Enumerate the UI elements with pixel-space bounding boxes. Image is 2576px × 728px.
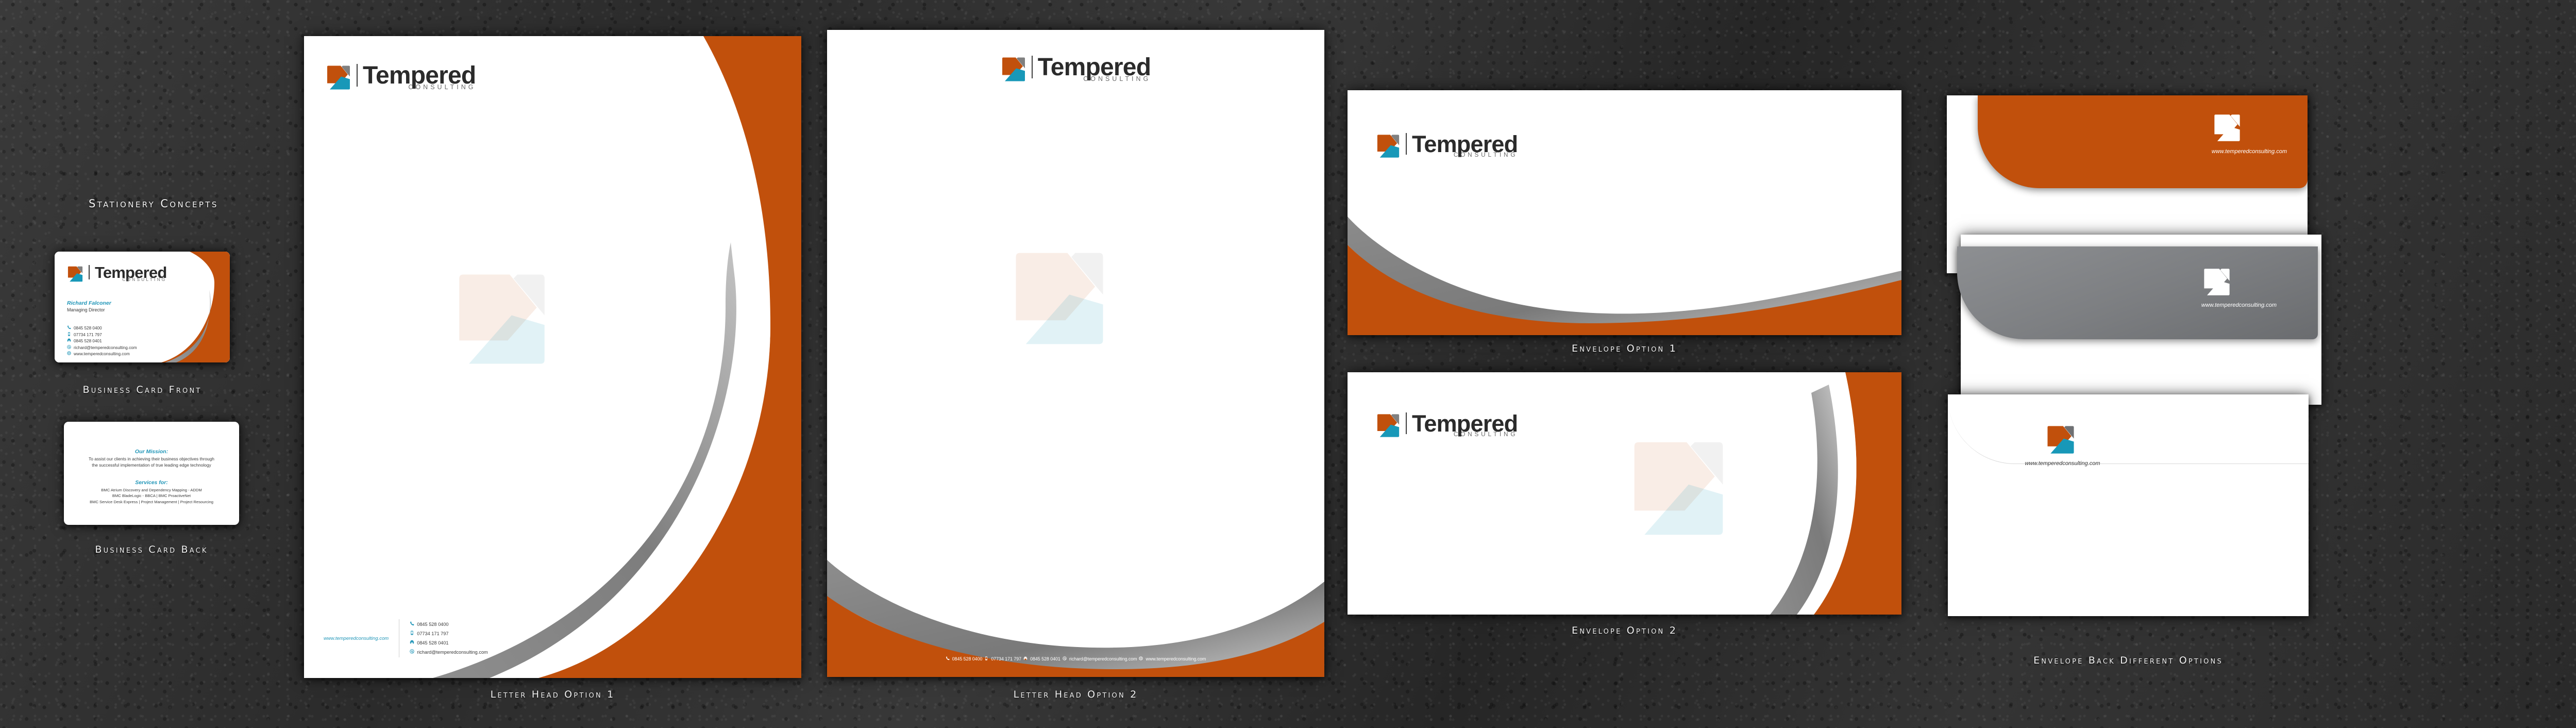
logo-tagline: CONSULTING xyxy=(363,84,476,91)
at-icon xyxy=(1063,656,1067,661)
logo-business-card-front: Tempered CONSULTING xyxy=(67,265,166,283)
envelope-back-orange-flap: www.temperedconsulting.com xyxy=(1978,95,2308,188)
mission-line-1: To assist our clients in achieving their… xyxy=(64,456,239,462)
logo-tagline: CONSULTING xyxy=(95,278,166,282)
contact-fax: 0845 528 0401 xyxy=(410,638,488,648)
logo-mark-icon xyxy=(1376,413,1401,438)
person-title: Managing Director xyxy=(67,307,111,312)
mission-block: Our Mission: To assist our clients in ac… xyxy=(64,449,239,468)
contact-mobile-value: 07734 171 797 xyxy=(74,332,102,339)
contact-email-value: richard@temperedconsulting.com xyxy=(1069,656,1137,661)
logo-mark-icon xyxy=(67,266,83,283)
presentation-board: Stationery Concepts xyxy=(0,0,2576,728)
contact-fax: 0845 528 0401 xyxy=(67,338,137,345)
contact-website: www.temperedconsulting.com xyxy=(1139,656,1206,661)
envelope-back-white-flap xyxy=(1948,394,2309,464)
contact-website-value: www.temperedconsulting.com xyxy=(1146,656,1206,661)
fax-icon xyxy=(410,638,414,648)
mission-heading: Our Mission: xyxy=(64,449,239,455)
contact-phone-value: 0845 528 0400 xyxy=(74,325,102,332)
services-line-1: BMC Atrium Discovery and Dependency Mapp… xyxy=(64,487,239,493)
globe-icon xyxy=(1139,656,1143,661)
envelope-back-grey-website: www.temperedconsulting.com xyxy=(2201,302,2277,308)
card-person-block: Richard Falconer Managing Director xyxy=(67,300,111,312)
letterhead-2-footer-contact: 0845 528 0400 07734 171 797 0845 528 040… xyxy=(827,656,1324,661)
contact-phone: 0845 528 0400 xyxy=(410,620,488,629)
contact-website-value: www.temperedconsulting.com xyxy=(74,351,130,358)
contact-email: richard@temperedconsulting.com xyxy=(410,648,488,657)
phone-icon xyxy=(67,325,71,332)
phone-icon xyxy=(946,656,950,661)
logo-letterhead-2: Tempered CONSULTING xyxy=(827,56,1324,82)
logo-divider xyxy=(1406,412,1407,434)
services-block: Services for: BMC Atrium Discovery and D… xyxy=(64,479,239,505)
at-icon xyxy=(410,648,414,657)
logo-wordmark: Tempered CONSULTING xyxy=(1038,56,1151,82)
contact-phone: 0845 528 0400 xyxy=(946,656,983,661)
business-card-back: Our Mission: To assist our clients in ac… xyxy=(64,422,239,525)
logo-tagline: CONSULTING xyxy=(1412,152,1518,158)
services-line-3: BMC Service Desk Express | Project Manag… xyxy=(64,499,239,505)
contact-phone: 0845 528 0400 xyxy=(67,325,137,332)
envelope-back-white-website: www.temperedconsulting.com xyxy=(2015,460,2110,467)
envelope-option-2: Tempered CONSULTING xyxy=(1348,372,1901,615)
services-line-2: BMC BladeLogic - BBCA | BMC ProactiveNet xyxy=(64,493,239,499)
envelope-back-orange-website: www.temperedconsulting.com xyxy=(2212,148,2287,155)
caption-business-card-back: Business Card Back xyxy=(64,544,239,555)
logo-mark-icon xyxy=(2046,424,2076,455)
logo-letterhead-1: Tempered CONSULTING xyxy=(326,64,476,91)
letterhead-2-graphics xyxy=(827,30,1324,677)
logo-wordmark: Tempered CONSULTING xyxy=(95,266,166,283)
mobile-icon xyxy=(67,332,71,339)
logo-divider xyxy=(1032,56,1033,78)
caption-letterhead-1: Letter head Option 1 xyxy=(304,689,801,700)
caption-envelope-2: Envelope Option 2 xyxy=(1348,625,1901,636)
section-title: Stationery Concepts xyxy=(89,197,218,210)
logo-divider xyxy=(357,64,358,87)
contact-phone-value: 0845 528 0400 xyxy=(952,656,983,661)
caption-envelope-back: Envelope Back Different Options xyxy=(1948,655,2309,666)
footer-divider xyxy=(399,619,399,657)
phone-icon xyxy=(410,620,414,629)
caption-business-card-front: Business Card Front xyxy=(55,384,230,395)
fax-icon xyxy=(67,338,71,345)
logo-mark-icon xyxy=(1001,56,1026,82)
mobile-icon xyxy=(984,656,988,661)
envelope-1-graphics xyxy=(1348,90,1901,335)
logo-envelope-1: Tempered CONSULTING xyxy=(1376,133,1518,159)
contact-mobile: 07734 171 797 xyxy=(410,629,488,638)
envelope-back-grey-flap: www.temperedconsulting.com xyxy=(1957,246,2318,339)
logo-wordmark: Tempered CONSULTING xyxy=(1412,413,1518,437)
contact-phone-value: 0845 528 0400 xyxy=(417,620,448,629)
contact-fax-value: 0845 528 0401 xyxy=(417,638,448,648)
contact-email-value: richard@temperedconsulting.com xyxy=(417,648,488,657)
caption-envelope-1: Envelope Option 1 xyxy=(1348,343,1901,354)
logo-tagline: CONSULTING xyxy=(1412,432,1518,438)
at-icon xyxy=(67,345,71,352)
logo-divider xyxy=(89,265,90,279)
logo-wordmark: Tempered CONSULTING xyxy=(363,64,476,91)
card-contact-block: 0845 528 0400 07734 171 797 0845 528 040… xyxy=(67,325,137,358)
logo-wordmark: Tempered CONSULTING xyxy=(1412,134,1518,158)
logo-envelope-2: Tempered CONSULTING xyxy=(1376,412,1518,438)
contact-website: www.temperedconsulting.com xyxy=(67,351,137,358)
fax-icon xyxy=(1023,656,1028,661)
contact-fax-value: 0845 528 0401 xyxy=(74,338,102,345)
envelope-2-graphics xyxy=(1348,372,1901,615)
mobile-icon xyxy=(410,629,414,638)
contact-fax-value: 0845 528 0401 xyxy=(1030,656,1060,661)
envelope-option-1: Tempered CONSULTING xyxy=(1348,90,1901,335)
contact-mobile-value: 07734 171 797 xyxy=(991,656,1021,661)
letterhead-1-footer: www.temperedconsulting.com 0845 528 0400… xyxy=(324,619,488,657)
letterhead-option-1: Tempered CONSULTING www.temperedconsulti… xyxy=(304,36,801,678)
contact-mobile: 07734 171 797 xyxy=(67,332,137,339)
contact-mobile-value: 07734 171 797 xyxy=(417,629,448,638)
logo-mark-icon xyxy=(2202,267,2231,297)
contact-email: richard@temperedconsulting.com xyxy=(67,345,137,352)
logo-mark-icon xyxy=(326,64,351,91)
footer-contact-block: 0845 528 0400 07734 171 797 0845 528 040… xyxy=(410,620,488,657)
contact-email: richard@temperedconsulting.com xyxy=(1063,656,1137,661)
logo-divider xyxy=(1406,133,1407,155)
contact-fax: 0845 528 0401 xyxy=(1023,656,1060,661)
envelope-back-white: www.temperedconsulting.com xyxy=(1948,394,2309,616)
caption-letterhead-2: Letter head Option 2 xyxy=(827,689,1324,700)
letterhead-1-graphics xyxy=(304,36,801,678)
business-card-front: Tempered CONSULTING Richard Falconer Man… xyxy=(55,252,230,362)
logo-tagline: CONSULTING xyxy=(1038,76,1151,82)
contact-email-value: richard@temperedconsulting.com xyxy=(74,345,137,352)
letterhead-option-2: Tempered CONSULTING 0845 528 0400 07734 … xyxy=(827,30,1324,677)
contact-mobile: 07734 171 797 xyxy=(984,656,1021,661)
person-name: Richard Falconer xyxy=(67,300,111,306)
logo-mark-icon xyxy=(2213,113,2242,143)
globe-icon xyxy=(67,351,71,358)
footer-website: www.temperedconsulting.com xyxy=(324,636,389,641)
logo-mark-icon xyxy=(1376,134,1401,159)
mission-line-2: the successful implementation of true le… xyxy=(64,462,239,468)
services-heading: Services for: xyxy=(64,479,239,486)
